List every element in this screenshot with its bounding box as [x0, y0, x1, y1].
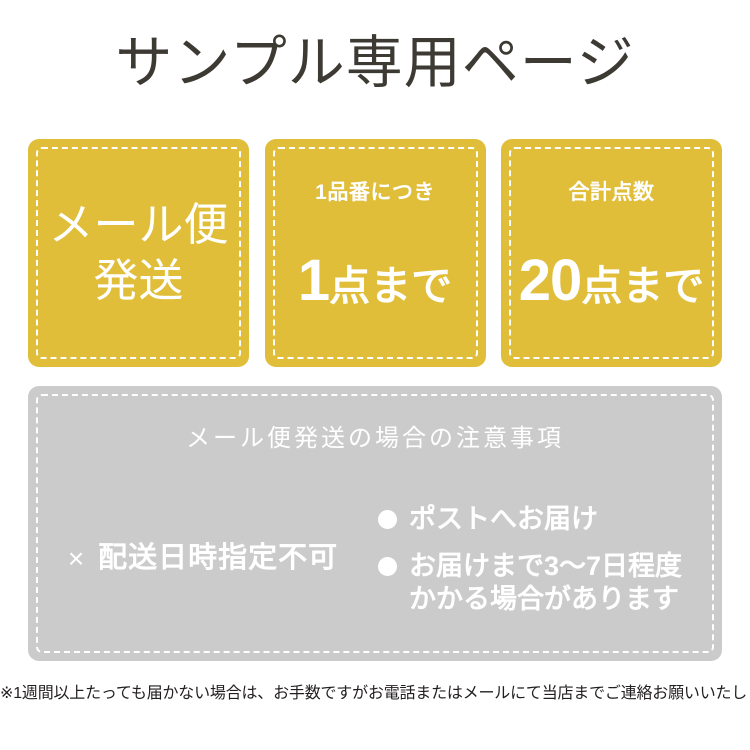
delivery-date-restriction: × 配送日時指定不可: [28, 543, 378, 575]
sample-shipping-info-page: サンプル専用ページ メール便 発送 1品番につき 1点まで 合計点数: [0, 0, 750, 750]
card-per-item-limit: 1品番につき 1点まで: [265, 139, 486, 367]
bullet-dot-icon: [378, 557, 397, 576]
card-total-unit: 点まで: [581, 263, 704, 309]
card-total-limit-content: 合計点数 20点まで: [501, 180, 722, 327]
card-mailbin-line2: 発送: [28, 253, 249, 309]
card-per-item-caption: 1品番につき: [265, 180, 486, 206]
card-per-item-unit: 点まで: [329, 263, 452, 309]
bullet-dot-icon: [378, 510, 397, 529]
card-per-item-limit-content: 1品番につき 1点まで: [265, 180, 486, 327]
bullet-text: お届けまで3〜7日程度 かかる場合があります: [409, 550, 682, 616]
card-total-caption: 合計点数: [501, 180, 722, 206]
bullet-line-2: かかる場合があります: [409, 583, 682, 616]
notice-heading: メール便発送の場合の注意事項: [28, 423, 722, 455]
card-mailbin-shipping: メール便 発送: [28, 139, 249, 367]
cross-icon: ×: [68, 545, 84, 573]
list-item: お届けまで3〜7日程度 かかる場合があります: [378, 550, 722, 616]
bullet-line-1: ポストへお届け: [409, 504, 598, 534]
notice-bullet-list: ポストへお届け お届けまで3〜7日程度 かかる場合があります: [378, 503, 722, 616]
notice-panel: メール便発送の場合の注意事項 × 配送日時指定不可 ポストへお届け お届けまで3…: [28, 386, 722, 661]
card-total-value: 20点まで: [501, 250, 722, 327]
card-mailbin-shipping-content: メール便 発送: [28, 197, 249, 309]
delivery-date-restriction-label: 配送日時指定不可: [98, 543, 338, 575]
info-card-row: メール便 発送 1品番につき 1点まで 合計点数 20点まで: [28, 139, 722, 367]
bullet-line-1: お届けまで3〜7日程度: [409, 551, 682, 581]
bullet-text: ポストへお届け: [409, 503, 598, 536]
card-per-item-value: 1点まで: [265, 250, 486, 327]
page-title: サンプル専用ページ: [0, 28, 750, 98]
card-mailbin-line1: メール便: [28, 197, 249, 253]
card-per-item-number: 1: [298, 248, 329, 313]
footnote: ※1週間以上たっても届かない場合は、お手数ですがお電話またはメールにて当店までご…: [0, 683, 750, 705]
notice-body: × 配送日時指定不可 ポストへお届け お届けまで3〜7日程度 かかる場合がありま…: [28, 484, 722, 634]
list-item: ポストへお届け: [378, 503, 722, 536]
card-total-number: 20: [519, 248, 582, 313]
card-total-limit: 合計点数 20点まで: [501, 139, 722, 367]
